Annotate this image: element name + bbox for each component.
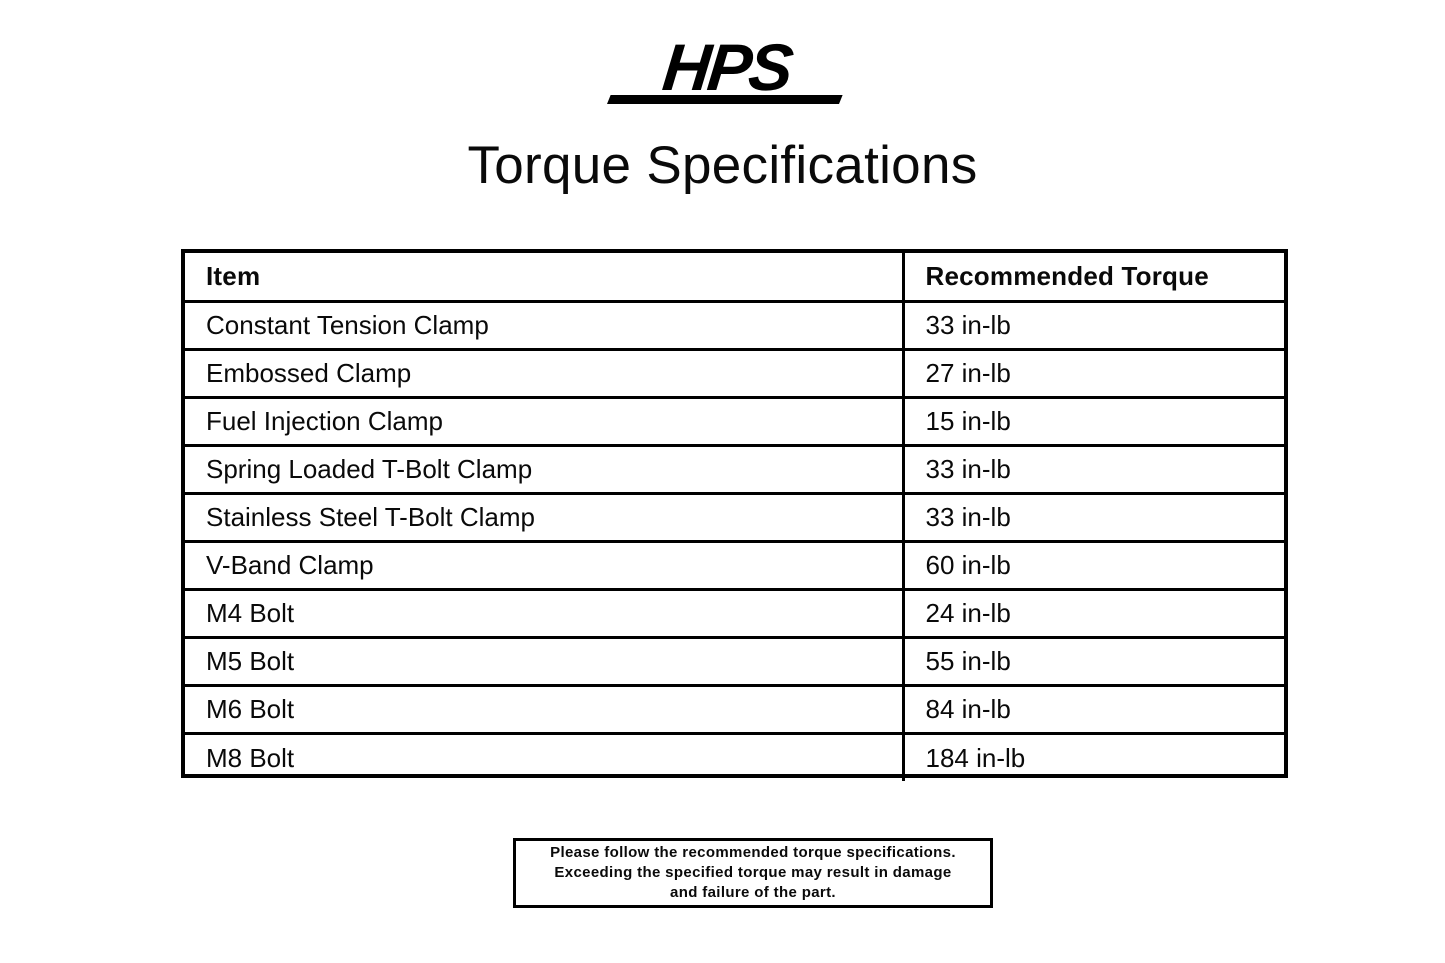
logo-underline-bar (607, 95, 843, 104)
table-header: Item Recommended Torque (185, 253, 1284, 301)
table-row: Fuel Injection Clamp 15 in-lb (185, 397, 1284, 445)
table-header-row: Item Recommended Torque (185, 253, 1284, 301)
cell-torque: 15 in-lb (903, 397, 1284, 445)
warning-note-box: Please follow the recommended torque spe… (513, 838, 993, 908)
warning-note-line: Please follow the recommended torque spe… (550, 843, 956, 863)
cell-torque: 60 in-lb (903, 541, 1284, 589)
table-body: Constant Tension Clamp 33 in-lb Embossed… (185, 301, 1284, 781)
table-row: Constant Tension Clamp 33 in-lb (185, 301, 1284, 349)
cell-item: M8 Bolt (185, 733, 903, 781)
cell-torque: 27 in-lb (903, 349, 1284, 397)
column-header-item: Item (185, 253, 903, 301)
cell-torque: 24 in-lb (903, 589, 1284, 637)
brand-logo: HPS (0, 38, 1445, 110)
table-row: M5 Bolt 55 in-lb (185, 637, 1284, 685)
cell-item: Embossed Clamp (185, 349, 903, 397)
logo-text: HPS (605, 32, 848, 102)
table-row: M8 Bolt 184 in-lb (185, 733, 1284, 781)
cell-item: Fuel Injection Clamp (185, 397, 903, 445)
torque-specifications-table: Item Recommended Torque Constant Tension… (181, 249, 1288, 778)
cell-torque: 84 in-lb (903, 685, 1284, 733)
cell-item: M6 Bolt (185, 685, 903, 733)
cell-torque: 33 in-lb (903, 301, 1284, 349)
page-title: Torque Specifications (0, 134, 1445, 198)
cell-torque: 33 in-lb (903, 493, 1284, 541)
table-row: M4 Bolt 24 in-lb (185, 589, 1284, 637)
cell-item: M5 Bolt (185, 637, 903, 685)
table-row: V-Band Clamp 60 in-lb (185, 541, 1284, 589)
cell-torque: 55 in-lb (903, 637, 1284, 685)
table-row: Stainless Steel T-Bolt Clamp 33 in-lb (185, 493, 1284, 541)
table-row: Spring Loaded T-Bolt Clamp 33 in-lb (185, 445, 1284, 493)
cell-item: Constant Tension Clamp (185, 301, 903, 349)
hps-wordmark-icon: HPS (605, 38, 841, 106)
warning-note-line: Exceeding the specified torque may resul… (554, 863, 951, 883)
table-row: Embossed Clamp 27 in-lb (185, 349, 1284, 397)
cell-torque: 33 in-lb (903, 445, 1284, 493)
cell-item: M4 Bolt (185, 589, 903, 637)
cell-item: Spring Loaded T-Bolt Clamp (185, 445, 903, 493)
column-header-torque: Recommended Torque (903, 253, 1284, 301)
warning-note-line: and failure of the part. (670, 883, 836, 903)
table-row: M6 Bolt 84 in-lb (185, 685, 1284, 733)
cell-torque: 184 in-lb (903, 733, 1284, 781)
cell-item: Stainless Steel T-Bolt Clamp (185, 493, 903, 541)
cell-item: V-Band Clamp (185, 541, 903, 589)
